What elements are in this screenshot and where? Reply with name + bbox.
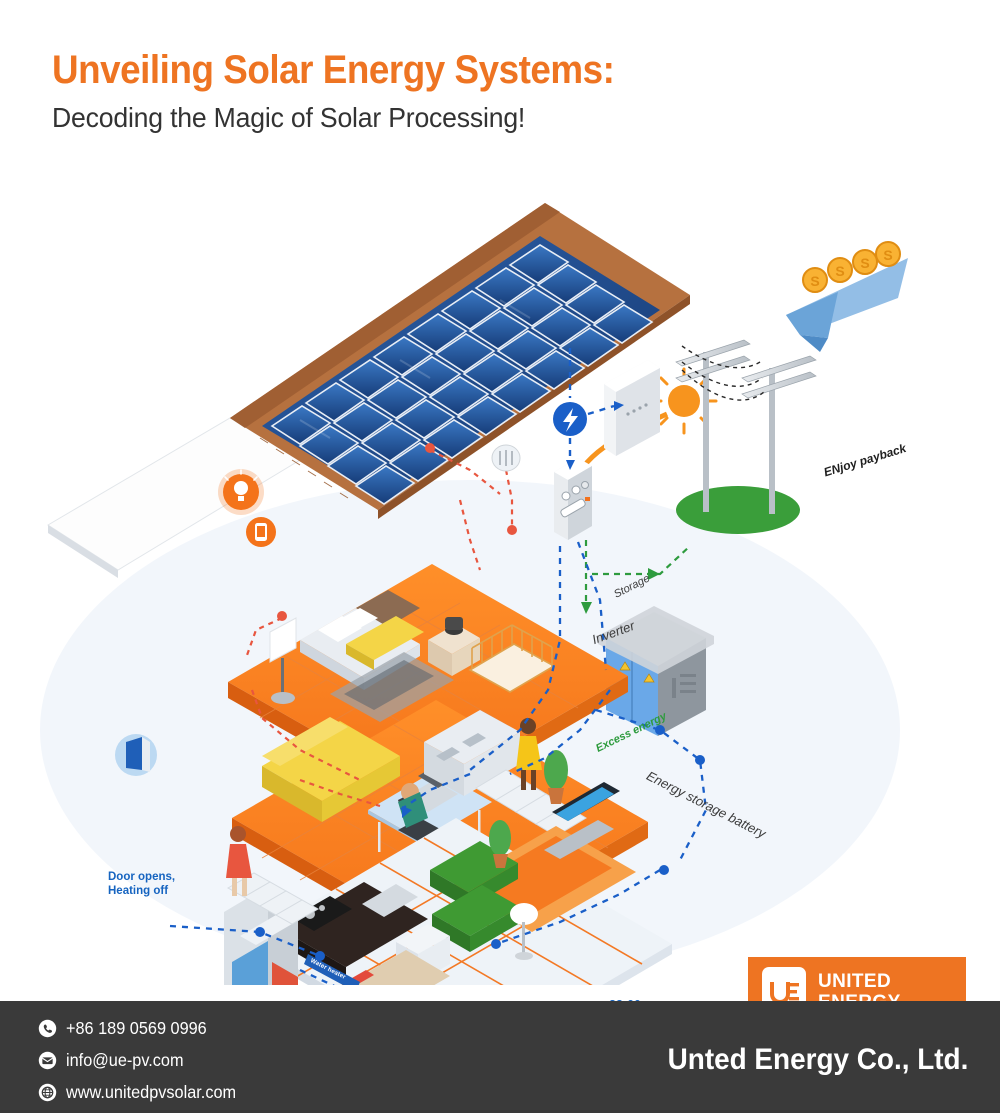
svg-text:S: S [860, 255, 869, 271]
svg-text:S: S [883, 247, 892, 263]
contact-website[interactable]: www.unitedpvsolar.com [38, 1077, 249, 1107]
label-door-heating: Door opens, Heating off [108, 870, 198, 898]
smart-device-icon [246, 517, 276, 547]
header: Unveiling Solar Energy Systems: Decoding… [52, 48, 952, 138]
contact-email-text: info@ue-pv.com [66, 1050, 184, 1071]
payback-paper-plane: S S S S [786, 242, 908, 352]
label-door-line1: Door opens, [108, 871, 175, 883]
contact-email[interactable]: info@ue-pv.com [38, 1045, 249, 1075]
globe-icon [38, 1083, 57, 1102]
contact-list: +86 189 0569 0996 info@ue-pv.com [38, 1013, 249, 1109]
svg-text:S: S [810, 273, 819, 289]
contact-website-text: www.unitedpvsolar.com [66, 1082, 236, 1103]
light-bulb-icon [218, 469, 264, 515]
ceiling-vent [492, 445, 520, 471]
page-title: Unveiling Solar Energy Systems: [52, 48, 880, 92]
door-icon [115, 734, 157, 776]
utility-poles [676, 340, 816, 534]
company-name: Unted Energy Co., Ltd. [667, 1043, 968, 1077]
label-door-line2: Heating off [108, 885, 168, 897]
svg-text:S: S [835, 263, 844, 279]
page-subtitle: Decoding the Magic of Solar Processing! [52, 98, 907, 138]
inverter-unit [554, 458, 592, 540]
logo-line-1: UNITED [818, 971, 901, 992]
storage-unit [604, 360, 660, 456]
contact-phone-text: +86 189 0569 0996 [66, 1018, 207, 1039]
contact-phone[interactable]: +86 189 0569 0996 [38, 1013, 249, 1043]
solar-system-illustration: S S S S [0, 170, 1000, 985]
footer-bar: +86 189 0569 0996 info@ue-pv.com [0, 1001, 1000, 1113]
email-icon [38, 1051, 57, 1070]
infographic-page: Unveiling Solar Energy Systems: Decoding… [0, 0, 1000, 1113]
phone-icon [38, 1019, 57, 1038]
lightning-bolt-icon [553, 402, 587, 436]
